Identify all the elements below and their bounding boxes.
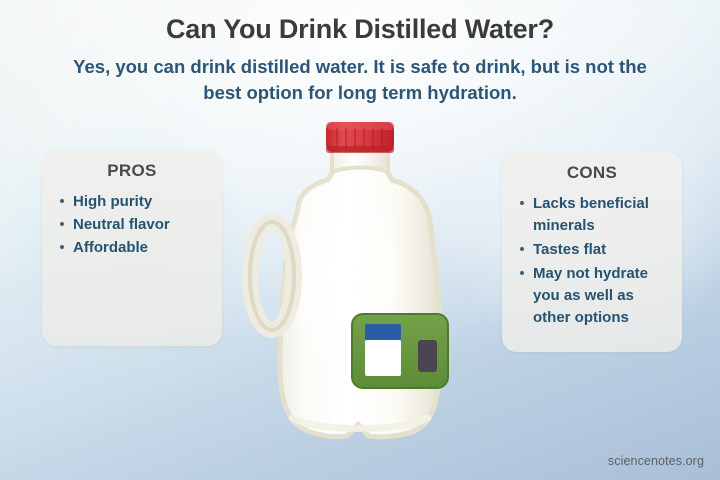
pros-list: High purity Neutral flavor Affordable	[42, 191, 222, 258]
list-item: Tastes flat	[518, 239, 672, 261]
water-jug-illustration	[232, 118, 488, 458]
list-item: Neutral flavor	[58, 214, 212, 235]
cons-list: Lacks beneficial minerals Tastes flat Ma…	[502, 193, 682, 329]
label-dark-block	[418, 340, 437, 372]
list-item: Lacks beneficial minerals	[518, 193, 672, 237]
jug-body	[280, 166, 440, 437]
pros-heading: PROS	[42, 161, 222, 181]
label-blue-block	[365, 324, 401, 340]
label-white-block	[365, 340, 401, 376]
jug-cap	[326, 122, 394, 153]
list-item: May not hydrate you as well as other opt…	[518, 263, 672, 329]
footer-attribution: sciencenotes.org	[608, 454, 704, 468]
cons-heading: CONS	[502, 163, 682, 183]
list-item: High purity	[58, 191, 212, 212]
infographic-canvas: Can You Drink Distilled Water? Yes, you …	[0, 0, 720, 480]
page-subtitle: Yes, you can drink distilled water. It i…	[60, 54, 660, 106]
list-item: Affordable	[58, 237, 212, 258]
jug-handle	[250, 222, 294, 330]
cons-panel: CONS Lacks beneficial minerals Tastes fl…	[502, 152, 682, 352]
pros-panel: PROS High purity Neutral flavor Affordab…	[42, 150, 222, 346]
page-title: Can You Drink Distilled Water?	[0, 14, 720, 45]
jug-label	[352, 314, 448, 388]
